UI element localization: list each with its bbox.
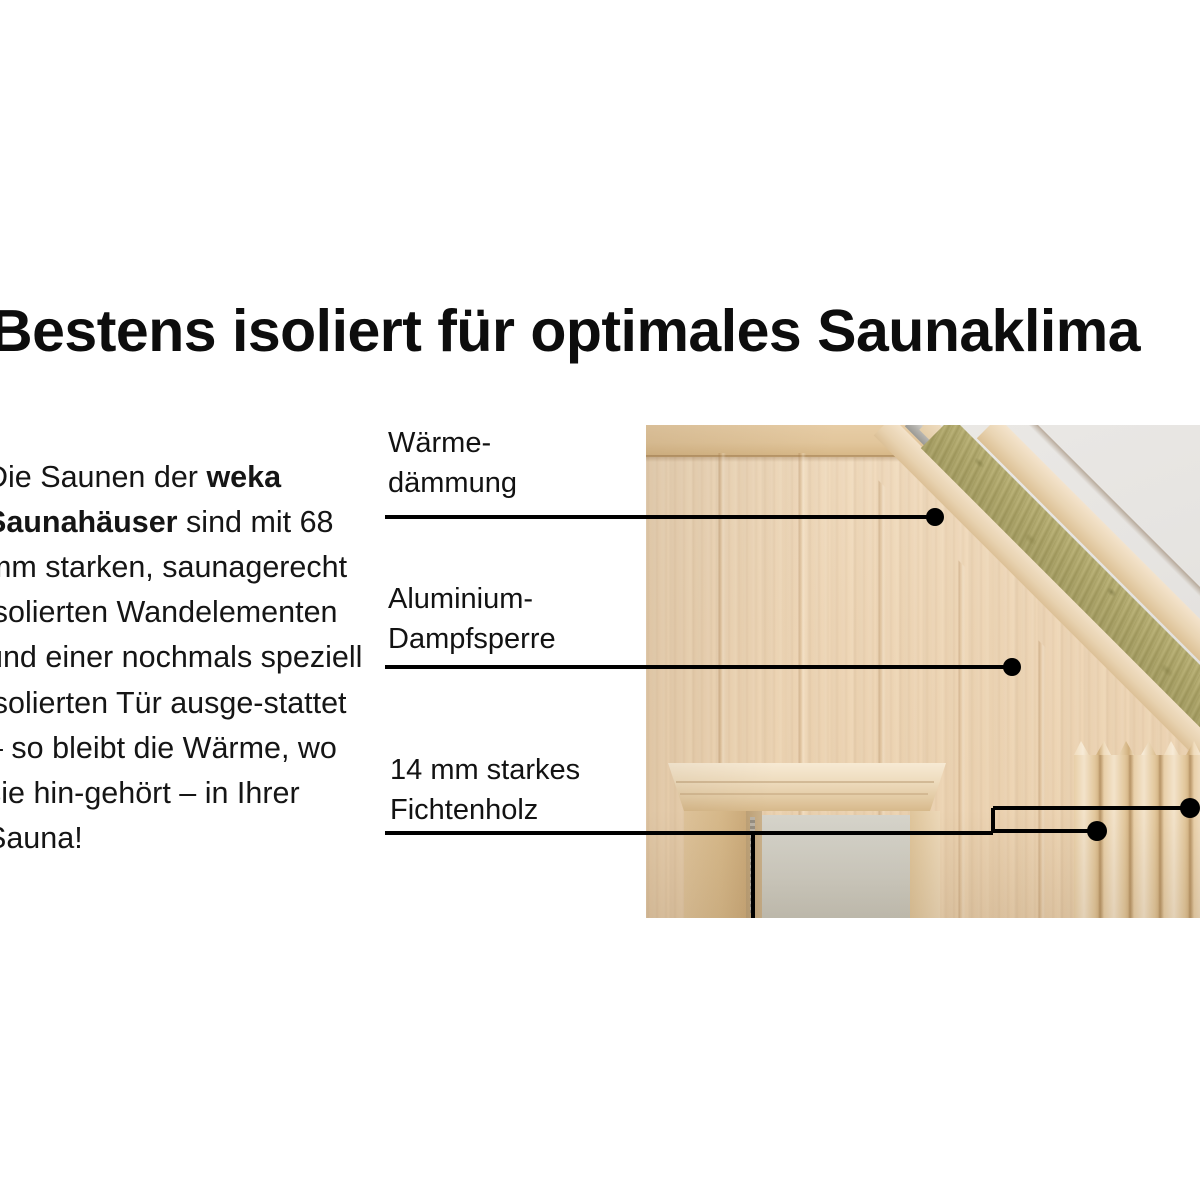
door-hinge-strip xyxy=(750,817,755,913)
intro-paragraph: Die Saunen der weka Saunahäuser sind mit… xyxy=(0,455,364,862)
callout-label-aluminium-dampfsperre: Aluminium- Dampfsperre xyxy=(388,579,556,659)
door-glass-panel xyxy=(762,815,910,918)
sauna-wall-cutaway-photo xyxy=(646,425,1200,918)
callout-label-fichtenholz: 14 mm starkes Fichtenholz xyxy=(390,750,580,830)
callout-label-waermedaemmung: Wärme- dämmung xyxy=(388,423,517,503)
page-root: Bestens isoliert für optimales Saunaklim… xyxy=(0,0,1200,1200)
door-header-cornice xyxy=(668,763,946,811)
wall-panel-end-boards xyxy=(1074,755,1200,918)
door-header-groove-2 xyxy=(680,793,928,795)
page-title: Bestens isoliert für optimales Saunaklim… xyxy=(0,298,1200,364)
door-jamb-right xyxy=(910,811,940,918)
intro-text-part-1: Die Saunen der xyxy=(0,460,206,494)
door-jamb-left xyxy=(684,811,746,918)
intro-text-part-2: sind mit 68 mm starken, saunagerecht iso… xyxy=(0,505,362,855)
door-header-groove-1 xyxy=(676,781,934,783)
